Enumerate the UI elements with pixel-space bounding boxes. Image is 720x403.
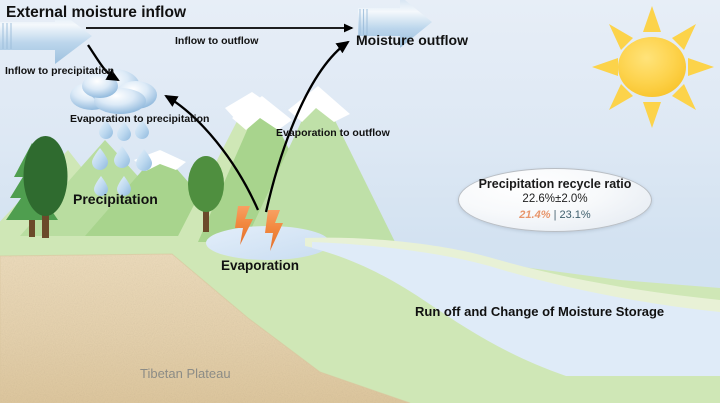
label-precipitation: Precipitation bbox=[73, 192, 158, 206]
moisture-cycle-diagram: External moisture inflow Moisture outflo… bbox=[0, 0, 720, 403]
callout-low-value: 21.4% bbox=[519, 209, 550, 221]
callout-title: Precipitation recycle ratio bbox=[459, 177, 651, 191]
label-moisture-outflow: Moisture outflow bbox=[356, 33, 468, 47]
label-evaporation-to-precipitation: Evaporation to precipitation bbox=[70, 114, 209, 125]
label-inflow-to-outflow: Inflow to outflow bbox=[175, 36, 258, 47]
label-evaporation: Evaporation bbox=[221, 259, 299, 273]
callout-mean-value: 22.6%±2.0% bbox=[459, 193, 651, 205]
label-runoff: Run off and Change of Moisture Storage bbox=[415, 305, 664, 318]
precipitation-recycle-ratio-callout: Precipitation recycle ratio 22.6%±2.0% 2… bbox=[458, 168, 652, 232]
callout-high-value: 23.1% bbox=[559, 209, 590, 221]
raindrop-icon bbox=[136, 149, 152, 171]
sun-icon bbox=[592, 6, 714, 128]
label-inflow-to-precipitation: Inflow to precipitation bbox=[5, 66, 114, 77]
callout-separator: | bbox=[554, 209, 557, 221]
label-external-inflow: External moisture inflow bbox=[6, 5, 186, 21]
label-evaporation-to-outflow: Evaporation to outflow bbox=[276, 128, 390, 139]
callout-range: 21.4% | 23.1% bbox=[459, 209, 651, 221]
raindrop-icon bbox=[114, 146, 130, 168]
label-tibetan-plateau: Tibetan Plateau bbox=[140, 367, 231, 380]
